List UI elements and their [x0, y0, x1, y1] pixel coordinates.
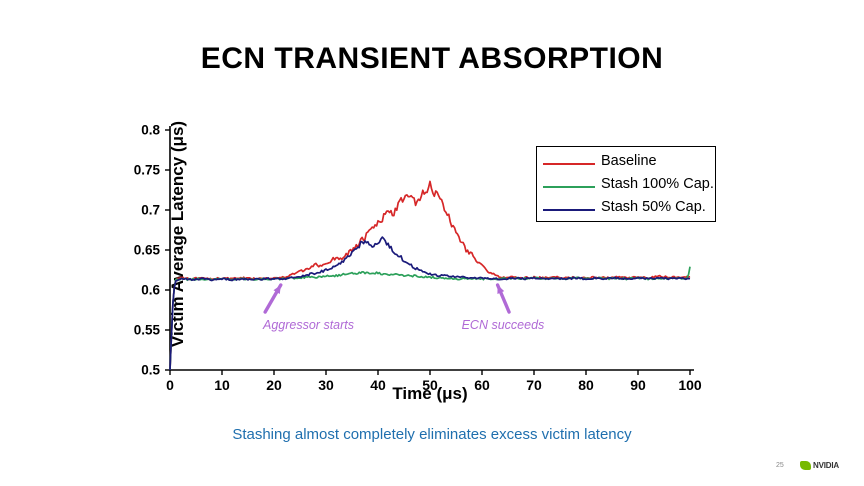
page-number: 25 [776, 462, 784, 469]
legend-color-swatch [543, 186, 595, 188]
nvidia-wordmark: NVIDIA [813, 461, 839, 470]
annotation-arrows [265, 285, 509, 312]
slide-canvas: ECN TRANSIENT ABSORPTION Victim Average … [0, 0, 864, 486]
legend-label: Stash 100% Cap. [601, 176, 714, 192]
chart-figure: Victim Average Latency (μs) Time (μs) 0.… [110, 112, 750, 412]
page-title: ECN TRANSIENT ABSORPTION [0, 42, 864, 76]
annotation-label-aggressor: Aggressor starts [263, 318, 354, 332]
legend-color-swatch [543, 163, 595, 165]
legend-item[interactable]: Stash 50% Cap. [543, 198, 715, 222]
series-2 [170, 237, 690, 370]
chart-legend: BaselineStash 100% Cap.Stash 50% Cap. [536, 146, 716, 222]
legend-label: Baseline [601, 153, 657, 169]
legend-item[interactable]: Baseline [543, 152, 715, 176]
series-1 [170, 267, 690, 370]
nvidia-logo: NVIDIA [800, 461, 839, 470]
legend-item[interactable]: Stash 100% Cap. [543, 175, 715, 199]
legend-color-swatch [543, 209, 595, 211]
annotation-label-ecn: ECN succeeds [462, 318, 545, 332]
slide-caption: Stashing almost completely eliminates ex… [0, 426, 864, 443]
legend-label: Stash 50% Cap. [601, 199, 706, 215]
nvidia-eye-icon [800, 461, 811, 470]
